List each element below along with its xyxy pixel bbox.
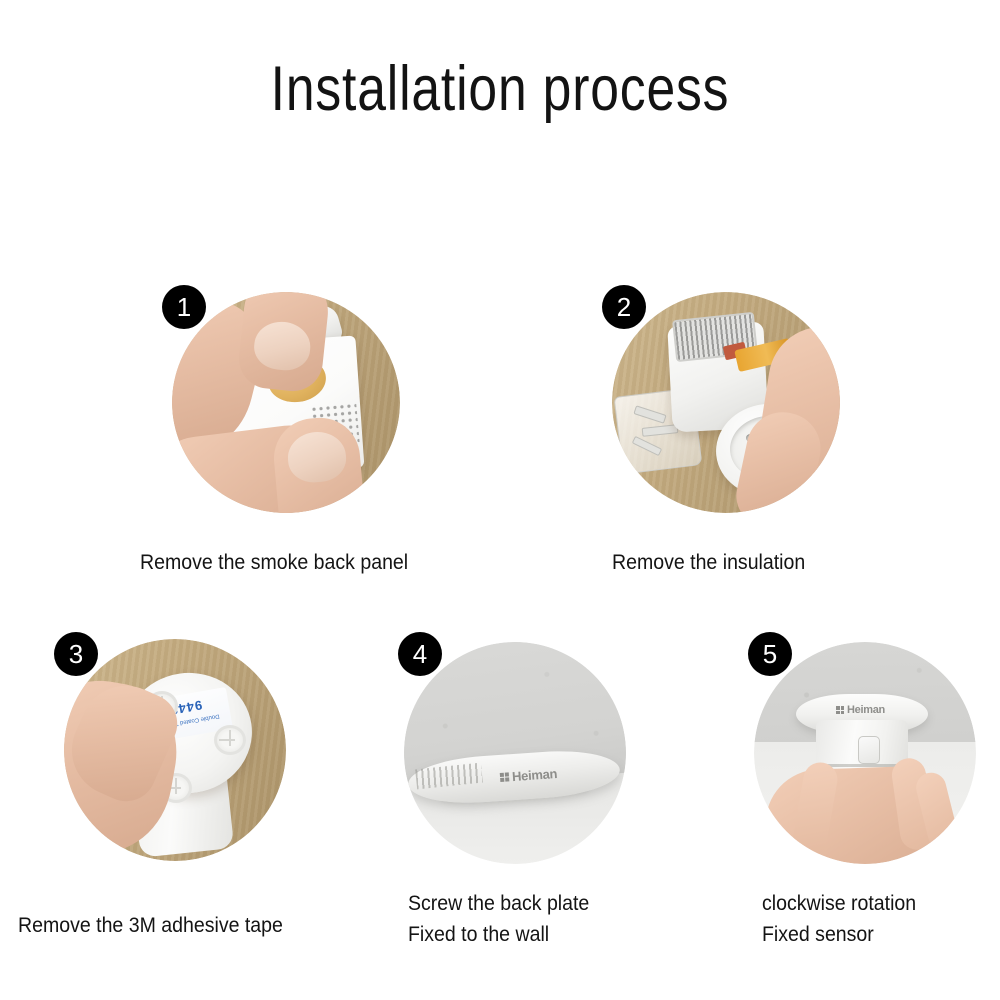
step-photo-5-image: Heiman [754, 642, 976, 864]
sensor-button [858, 736, 880, 764]
step-photo-2-image [612, 292, 840, 513]
page-title: Installation process [90, 56, 910, 122]
step-photo-3: 9448A Double Coated Tissue Tape [64, 639, 286, 861]
heiman-mark-icon [836, 706, 844, 714]
step-badge-1: 1 [162, 285, 206, 329]
step-badge-5: 5 [748, 632, 792, 676]
step-photo-4-image: Heiman [404, 642, 626, 864]
thumbnail [286, 430, 348, 485]
step-photo-3-image: 9448A Double Coated Tissue Tape [64, 639, 286, 861]
step-photo-1-image [172, 292, 400, 513]
caption-line: clockwise rotation [762, 888, 916, 919]
caption-line: Fixed sensor [762, 919, 916, 950]
step-caption-1: Remove the smoke back panel [140, 547, 408, 578]
heiman-mark-icon [500, 772, 510, 782]
step-photo-2 [612, 292, 840, 513]
mount-slot [214, 725, 246, 755]
caption-line: Remove the 3M adhesive tape [18, 910, 283, 941]
step-badge-3: 3 [54, 632, 98, 676]
caption-line: Remove the smoke back panel [140, 547, 408, 578]
brand-logo: Heiman [836, 704, 885, 716]
step-photo-4: Heiman [404, 642, 626, 864]
step-badge-2: 2 [602, 285, 646, 329]
step-caption-3: Remove the 3M adhesive tape [18, 910, 283, 941]
brand-name: Heiman [512, 766, 558, 784]
step-caption-4: Screw the back plate Fixed to the wall [408, 888, 589, 950]
step-photo-5: Heiman [754, 642, 976, 864]
caption-line: Remove the insulation [612, 547, 805, 578]
step-badge-4: 4 [398, 632, 442, 676]
caption-line: Fixed to the wall [408, 919, 589, 950]
step-photo-1 [172, 292, 400, 513]
brand-name: Heiman [847, 704, 885, 716]
step-caption-5: clockwise rotation Fixed sensor [762, 888, 916, 950]
thumbnail [252, 319, 313, 373]
step-caption-2: Remove the insulation [612, 547, 805, 578]
caption-line: Screw the back plate [408, 888, 589, 919]
